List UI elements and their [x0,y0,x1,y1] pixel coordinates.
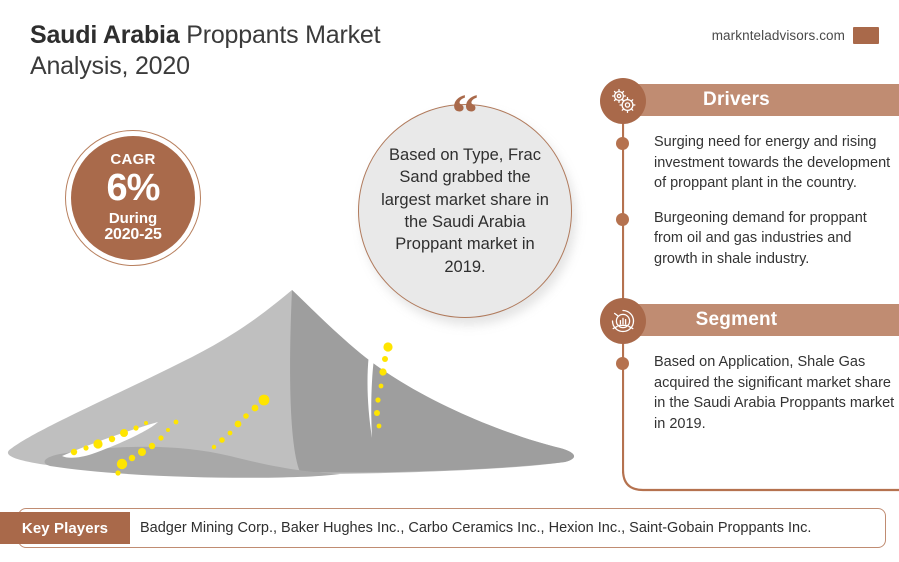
page-title-bold: Saudi Arabia [30,21,180,49]
page-title-rest: Proppants Market [180,21,381,49]
bullet-text: Burgeoning demand for proppant from oil … [654,208,899,270]
bullet-dot-icon [616,357,629,370]
analytics-chart-icon [600,298,646,344]
brand-text: marknteladvisors.com [712,28,845,43]
brand-block-icon [853,27,879,44]
section-title-drivers: Drivers [703,89,830,111]
segment-bullet-list: Based on Application, Shale Gas acquired… [598,352,899,448]
bullet-dot-icon [616,213,629,226]
cagr-years: 2020-25 [104,227,161,244]
list-item: Surging need for energy and rising inves… [598,132,899,194]
section-title-bar-segment: Segment [634,304,899,336]
cagr-circle: CAGR 6% During 2020-25 [71,136,195,260]
list-item: Based on Application, Shale Gas acquired… [598,352,899,434]
insights-panel: Drivers [598,78,899,503]
section-header-segment: Segment [598,298,899,342]
page-title-line2: Analysis, 2020 [30,52,190,80]
bullet-text: Surging need for energy and rising inves… [654,132,899,194]
section-title-bar-drivers: Drivers [634,84,899,116]
section-title-segment: Segment [696,309,838,331]
bullet-text: Based on Application, Shale Gas acquired… [654,352,899,434]
cagr-during-label: During [109,211,157,227]
cagr-badge: CAGR 6% During 2020-25 [65,130,201,266]
key-players-list: Badger Mining Corp., Baker Hughes Inc., … [140,512,811,544]
gears-icon [600,78,646,124]
section-header-drivers: Drivers [598,78,899,122]
cagr-label: CAGR [110,152,155,168]
page-title: Saudi Arabia Proppants Market Analysis, … [30,20,550,83]
key-players-label: Key Players [0,512,130,544]
quote-bubble: Based on Type, Frac Sand grabbed the lar… [358,104,572,318]
bullet-dot-icon [616,137,629,150]
brand: marknteladvisors.com [712,27,879,44]
quote-mark-icon: “ [452,86,479,140]
quote-text: Based on Type, Frac Sand grabbed the lar… [379,144,551,278]
drivers-bullet-list: Surging need for energy and rising inves… [598,132,899,283]
cagr-value: 6% [107,169,160,209]
list-item: Burgeoning demand for proppant from oil … [598,208,899,270]
